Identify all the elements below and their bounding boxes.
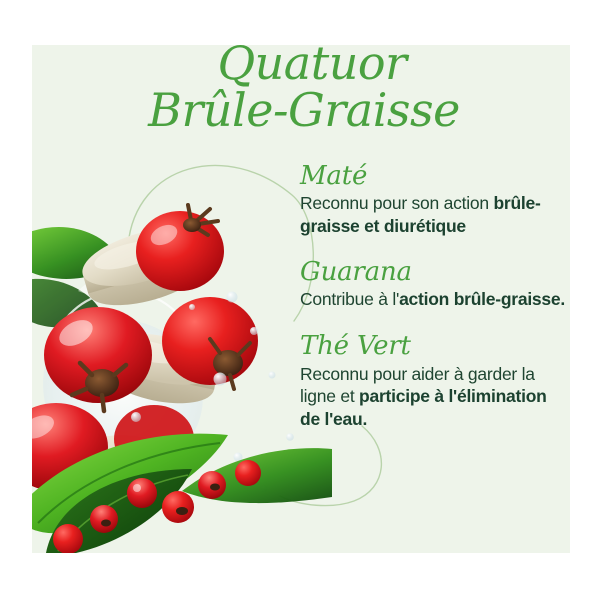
headline-line-1: Quatuor xyxy=(32,40,570,87)
ingredient-title-mate: Maté xyxy=(300,162,570,191)
headline-line-2: Brûle-Graisse xyxy=(32,87,570,134)
ingredient-body-the-vert: Reconnu pour aider à garder la ligne et … xyxy=(300,363,570,431)
ingredient-body-guarana-regular: Contribue à l' xyxy=(300,289,399,309)
ingredient-body-mate: Reconnu pour son action brûle-graisse et… xyxy=(300,192,570,238)
promo-poster: Quatuor Brûle-Graisse Maté Reconnu pour … xyxy=(0,0,600,600)
ingredient-title-guarana: Guarana xyxy=(300,258,570,287)
ingredient-list: Maté Reconnu pour son action brûle-grais… xyxy=(300,162,570,431)
ingredient-block-the-vert: Thé Vert Reconnu pour aider à garder la … xyxy=(300,332,570,430)
ingredient-block-mate: Maté Reconnu pour son action brûle-grais… xyxy=(300,162,570,238)
ingredient-body-guarana-bold: action brûle-graisse. xyxy=(399,289,565,309)
ingredient-title-the-vert: Thé Vert xyxy=(300,332,570,361)
ingredient-body-mate-regular: Reconnu pour son action xyxy=(300,193,493,213)
poster-headline: Quatuor Brûle-Graisse xyxy=(32,40,570,134)
ingredient-block-guarana: Guarana Contribue à l'action brûle-grais… xyxy=(300,258,570,311)
ingredient-body-guarana: Contribue à l'action brûle-graisse. xyxy=(300,288,570,311)
